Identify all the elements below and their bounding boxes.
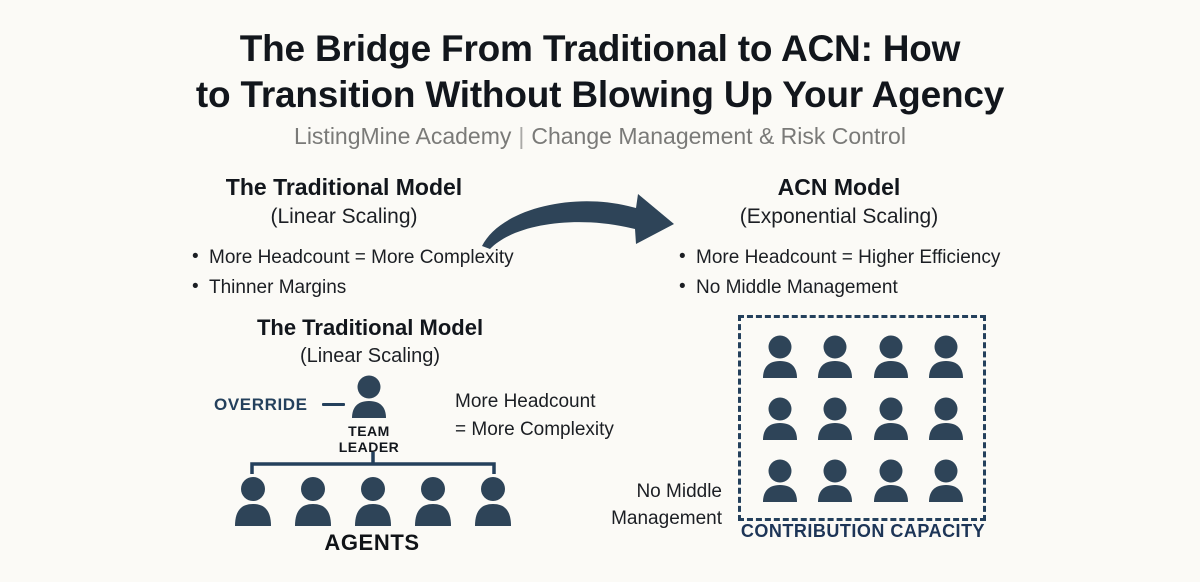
traditional-diagram-header: The Traditional Model (Linear Scaling) — [182, 313, 558, 370]
page-title: The Bridge From Traditional to ACN: How … — [0, 26, 1200, 118]
slide-canvas: The Bridge From Traditional to ACN: How … — [0, 0, 1200, 582]
complexity-note-line-2: = More Complexity — [455, 416, 614, 444]
capacity-person-icon — [870, 335, 912, 379]
acn-bullet-list: More Headcount = Higher Efficiency No Mi… — [679, 243, 1000, 302]
page-title-line-2: to Transition Without Blowing Up Your Ag… — [0, 72, 1200, 118]
capacity-person-icon — [925, 335, 967, 379]
subtitle-brand: ListingMine Academy — [294, 123, 511, 149]
list-item: No Middle Management — [679, 273, 1000, 302]
no-middle-management-note: No Middle Management — [560, 478, 722, 532]
team-leader-caption-line-1: TEAM — [318, 423, 420, 439]
override-label: OVERRIDE — [214, 395, 308, 415]
subtitle-separator: | — [511, 123, 531, 149]
agents-person-row — [232, 476, 512, 528]
traditional-diagram-subheading: (Linear Scaling) — [182, 342, 558, 370]
capacity-person-icon — [870, 397, 912, 441]
traditional-bullet-list: More Headcount = More Complexity Thinner… — [192, 243, 514, 302]
capacity-person-icon — [925, 459, 967, 503]
complexity-note: More Headcount = More Complexity — [455, 388, 614, 444]
traditional-column-header: The Traditional Model (Linear Scaling) — [164, 172, 524, 231]
list-item: Thinner Margins — [192, 273, 514, 302]
capacity-person-icon — [759, 335, 801, 379]
curved-arrow-right-icon — [478, 188, 714, 250]
page-title-line-1: The Bridge From Traditional to ACN: How — [0, 26, 1200, 72]
capacity-person-icon — [759, 397, 801, 441]
team-leader-caption: TEAM LEADER — [318, 423, 420, 455]
traditional-subheading: (Linear Scaling) — [164, 202, 524, 231]
capacity-person-icon — [759, 459, 801, 503]
capacity-person-icon — [814, 459, 856, 503]
list-item: More Headcount = More Complexity — [192, 243, 514, 272]
page-subtitle: ListingMine Academy|Change Management & … — [0, 123, 1200, 150]
contribution-capacity-caption: CONTRIBUTION CAPACITY — [718, 521, 1008, 542]
agents-caption: AGENTS — [232, 530, 512, 556]
contribution-capacity-grid — [752, 326, 974, 512]
list-item: More Headcount = Higher Efficiency — [679, 243, 1000, 272]
complexity-note-line-1: More Headcount — [455, 388, 614, 416]
traditional-diagram-heading: The Traditional Model — [182, 313, 558, 342]
team-leader-person-icon — [348, 375, 390, 419]
capacity-person-icon — [925, 397, 967, 441]
override-connector-line — [322, 403, 345, 406]
capacity-person-icon — [814, 335, 856, 379]
subtitle-topic: Change Management & Risk Control — [531, 123, 906, 149]
no-middle-note-line-1: No Middle — [560, 478, 722, 505]
traditional-heading: The Traditional Model — [164, 172, 524, 202]
capacity-person-icon — [814, 397, 856, 441]
no-middle-note-line-2: Management — [560, 505, 722, 532]
capacity-person-icon — [870, 459, 912, 503]
org-chart-bracket — [248, 452, 498, 477]
